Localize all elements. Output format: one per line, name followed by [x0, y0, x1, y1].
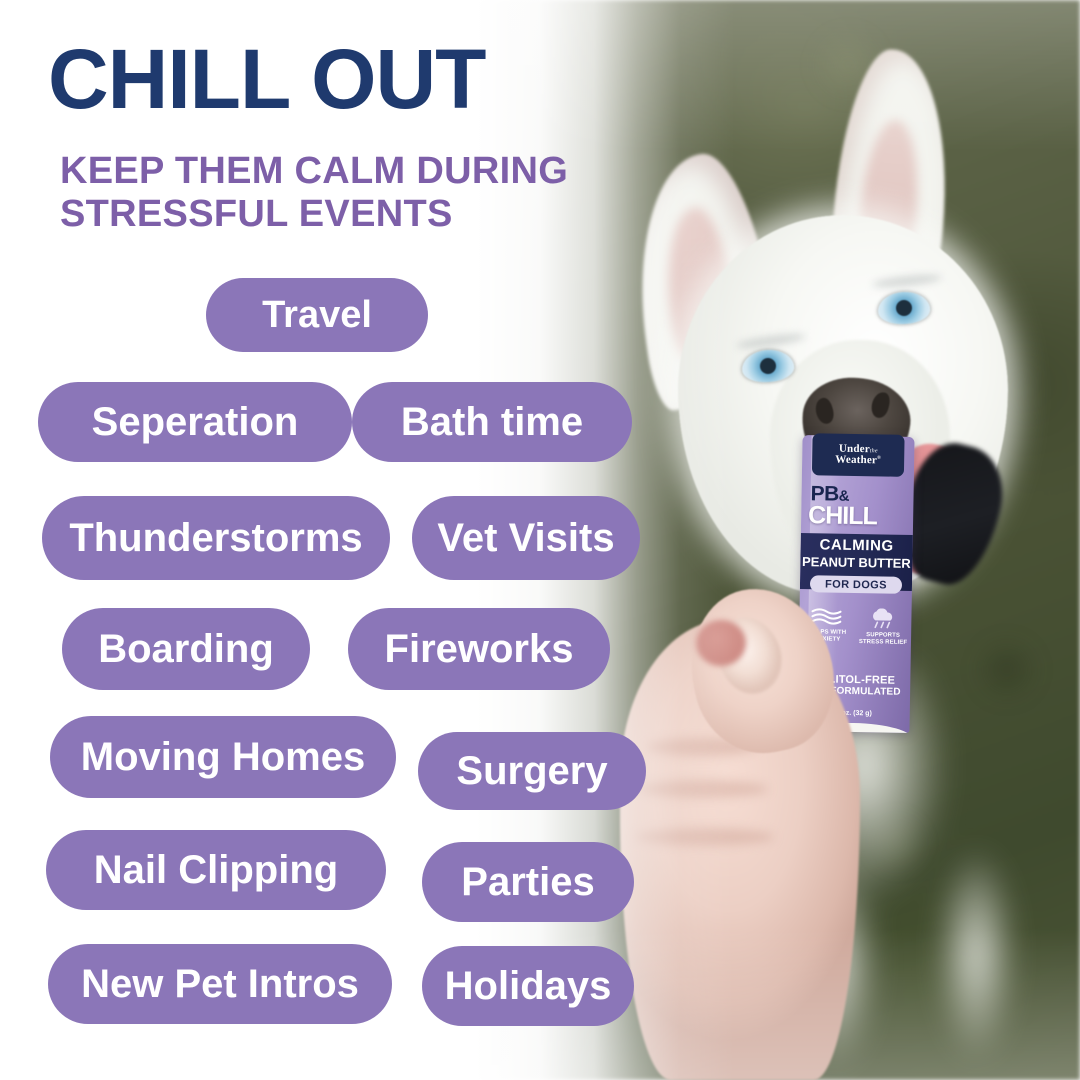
- stress-event-pill[interactable]: Holidays: [422, 946, 634, 1026]
- stress-event-pill[interactable]: Surgery: [418, 732, 646, 810]
- stress-event-pill[interactable]: Thunderstorms: [42, 496, 390, 580]
- stress-event-pill[interactable]: Nail Clipping: [46, 830, 386, 910]
- page-subtitle: KEEP THEM CALM DURING STRESSFUL EVENTS: [60, 150, 568, 237]
- subtitle-line-2: STRESSFUL EVENTS: [60, 193, 568, 236]
- promo-poster: PB& CHILL CALMING PEANUT BUTTER FOR DOGS: [0, 0, 1080, 1080]
- stress-event-pill[interactable]: Vet Visits: [412, 496, 640, 580]
- page-title: CHILL OUT: [48, 38, 485, 120]
- stress-event-pill[interactable]: Boarding: [62, 608, 310, 690]
- poster-content: CHILL OUT KEEP THEM CALM DURING STRESSFU…: [0, 0, 1080, 1080]
- stress-event-pill[interactable]: Moving Homes: [50, 716, 396, 798]
- subtitle-line-1: KEEP THEM CALM DURING: [60, 150, 568, 193]
- stress-event-pill[interactable]: Bath time: [352, 382, 632, 462]
- stress-event-pill[interactable]: Fireworks: [348, 608, 610, 690]
- stress-event-pill[interactable]: Parties: [422, 842, 634, 922]
- stress-event-pill[interactable]: New Pet Intros: [48, 944, 392, 1024]
- stress-event-pill[interactable]: Seperation: [38, 382, 352, 462]
- stress-event-pill[interactable]: Travel: [206, 278, 428, 352]
